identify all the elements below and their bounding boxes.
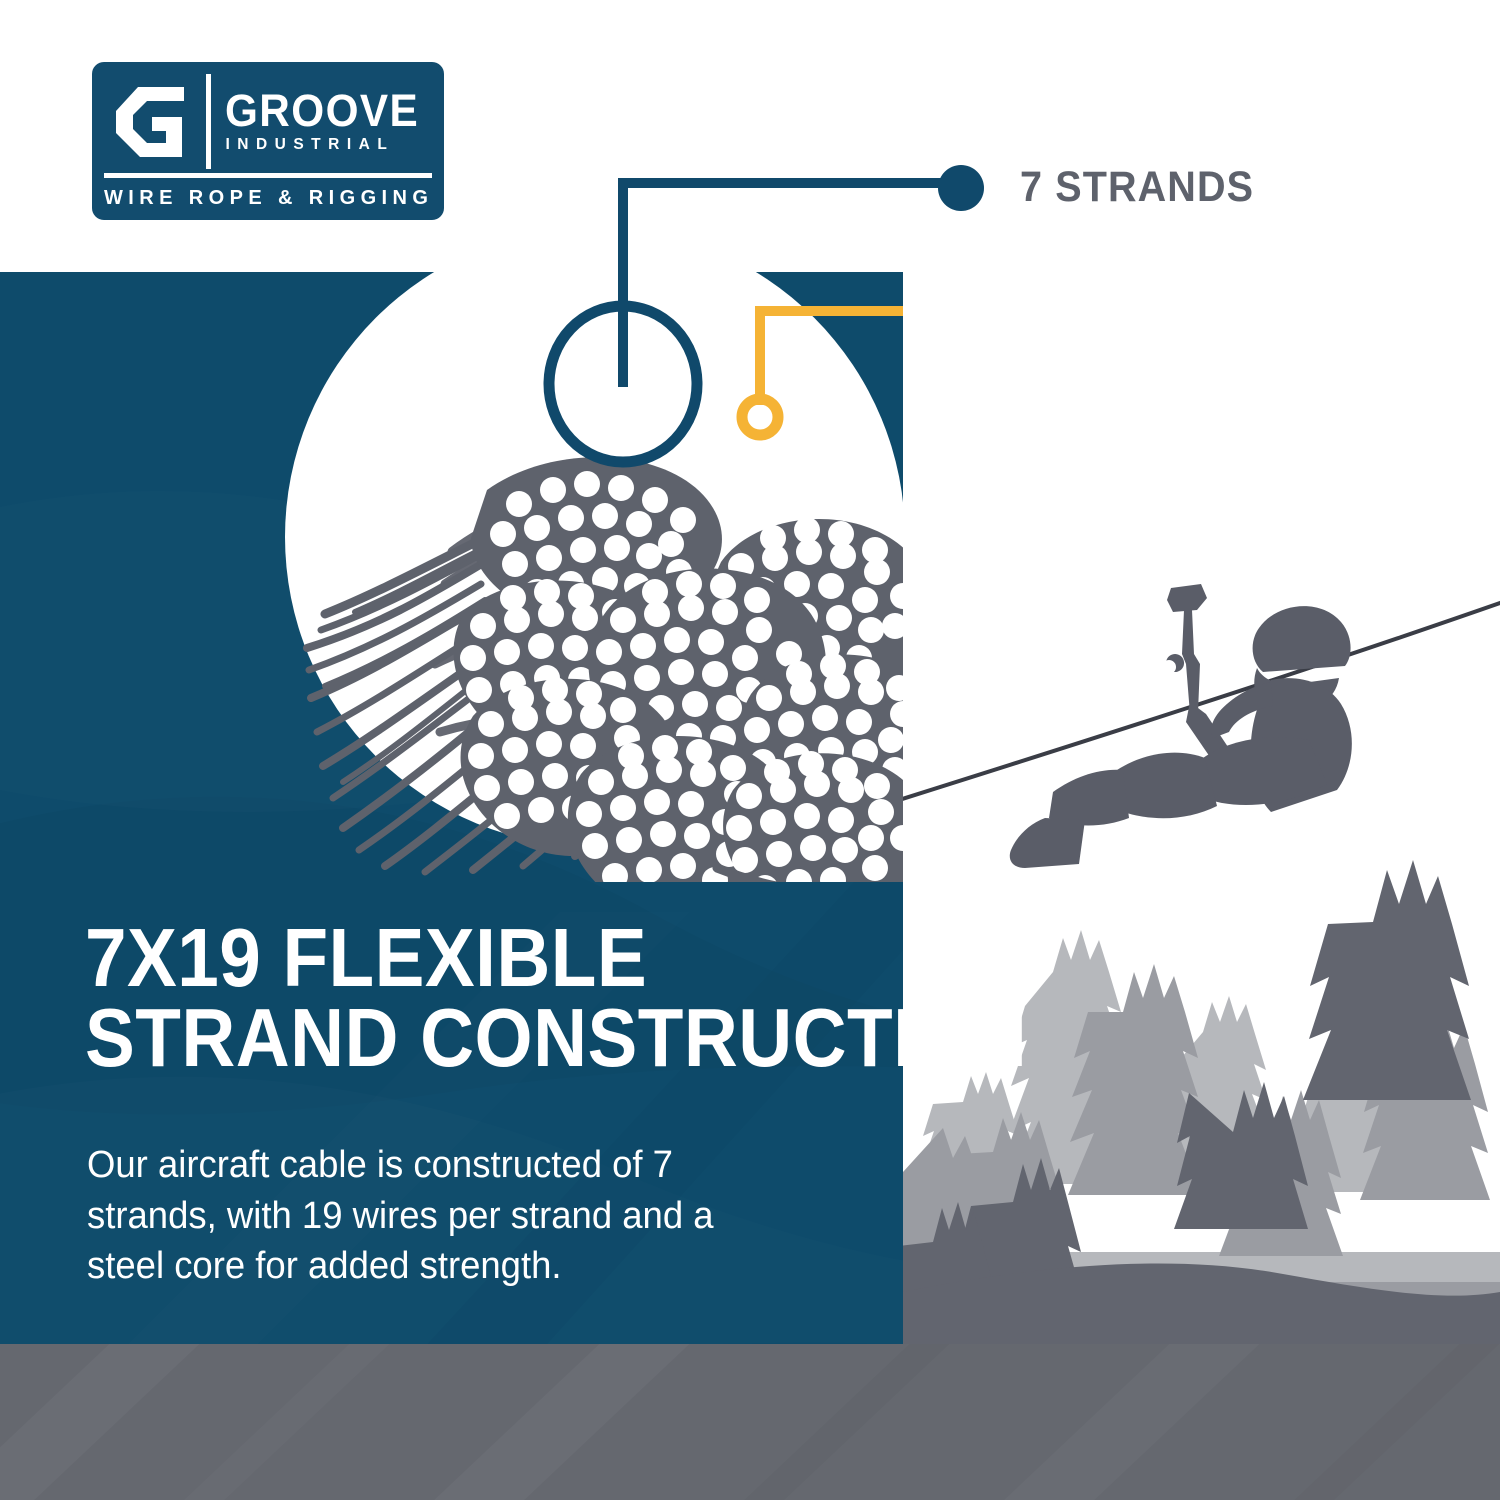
callout-7-strands[interactable]: 7 STRANDS — [938, 163, 1275, 212]
bottom-gray-band — [0, 1344, 1500, 1500]
zipline-photo — [903, 272, 1500, 1344]
logo-tagline: WIRE ROPE & RIGGING — [104, 178, 432, 210]
body-line-1: Our aircraft cable is constructed of 7 — [87, 1140, 759, 1191]
wire-rope-illustration — [285, 262, 905, 882]
body-line-2: strands, with 19 wires per strand and a — [87, 1191, 759, 1242]
wire-highlight-ring — [742, 399, 778, 435]
brand-logo[interactable]: GROOVE INDUSTRIAL WIRE ROPE & RIGGING — [92, 62, 444, 220]
logo-subtitle: INDUSTRIAL — [225, 136, 432, 154]
strand-magnifier-ring — [549, 306, 697, 462]
callout-dot-navy — [938, 165, 984, 211]
body-copy: Our aircraft cable is constructed of 7 s… — [87, 1140, 759, 1292]
groove-g-monogram-icon — [104, 74, 211, 169]
page-title: 7X19 FLEXIBLE STRAND CONSTRUCTION — [85, 918, 796, 1077]
body-line-3: steel core for added strength. — [87, 1241, 759, 1292]
infographic-canvas: 7 STRANDS 19 WIRES PER STRAND HOT DIP GA… — [0, 0, 1500, 1500]
headline-line-1: 7X19 FLEXIBLE — [85, 918, 796, 998]
headline-line-2: STRAND CONSTRUCTION — [85, 998, 796, 1078]
callout-label-7-strands: 7 STRANDS — [1020, 163, 1254, 212]
logo-name: GROOVE — [225, 89, 419, 132]
